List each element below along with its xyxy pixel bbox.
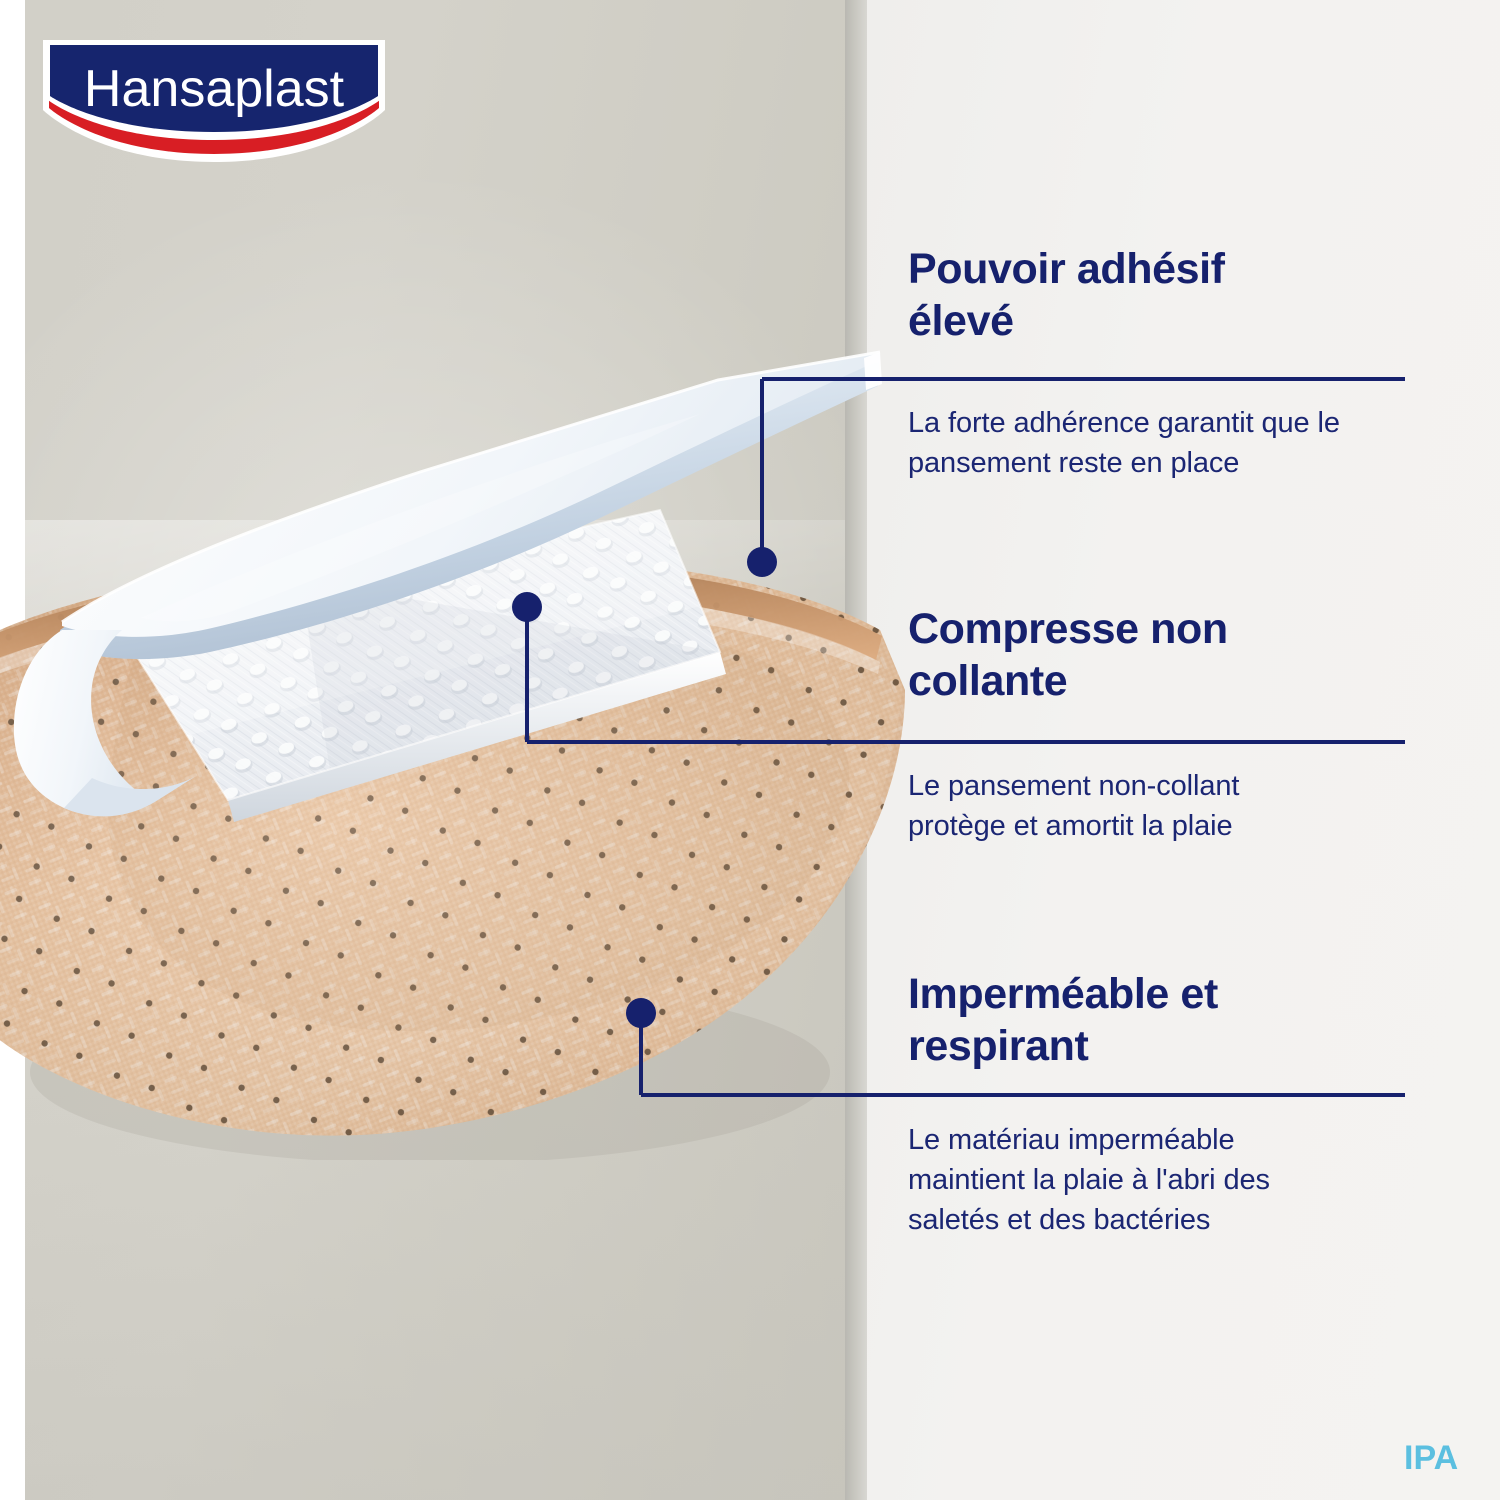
feature-rule-non-stick-pad xyxy=(527,740,1405,744)
feature-body-waterproof: Le matériau imperméable maintient la pla… xyxy=(908,1120,1418,1240)
feature-block-adhesion: Pouvoir adhésif élevé xyxy=(908,243,1428,348)
feature-title-non-stick-pad: Compresse non collante xyxy=(908,603,1428,708)
feature-title-waterproof: Imperméable et respirant xyxy=(908,968,1428,1073)
feature-rule-waterproof xyxy=(641,1093,1405,1097)
feature-body-non-stick-pad: Le pansement non-collant protège et amor… xyxy=(908,766,1418,846)
infographic-canvas: Hansaplast xyxy=(0,0,1500,1500)
feature-body-wrap-waterproof: Le matériau imperméable maintient la pla… xyxy=(908,1120,1418,1240)
feature-block-waterproof: Imperméable et respirant xyxy=(908,968,1428,1073)
watermark-text: IPA xyxy=(1404,1439,1458,1477)
feature-body-wrap-adhesion: La forte adhérence garantit que le panse… xyxy=(908,403,1418,483)
feature-body-wrap-non-stick-pad: Le pansement non-collant protège et amor… xyxy=(908,766,1418,846)
ipa-watermark: IPA xyxy=(1404,1438,1474,1478)
feature-block-non-stick-pad: Compresse non collante xyxy=(908,603,1428,708)
feature-title-adhesion: Pouvoir adhésif élevé xyxy=(908,243,1428,348)
right-background-panel xyxy=(867,0,1500,1500)
logo-wordmark: Hansaplast xyxy=(84,60,345,118)
feature-body-adhesion: La forte adhérence garantit que le panse… xyxy=(908,403,1418,483)
hansaplast-logo: Hansaplast xyxy=(43,40,385,162)
product-illustration xyxy=(0,330,950,1160)
feature-rule-adhesion xyxy=(762,377,1405,381)
